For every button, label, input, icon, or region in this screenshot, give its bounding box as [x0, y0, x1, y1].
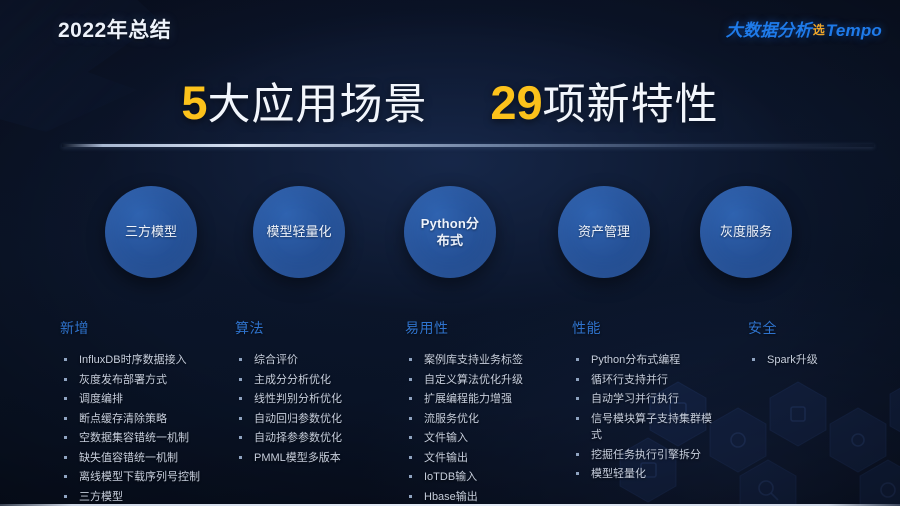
headline-part-1: 5大应用场景	[181, 70, 427, 132]
brand-highlight: 选	[812, 23, 826, 37]
headline-number-2: 29	[490, 76, 542, 129]
list-item: 自动学习并行执行	[572, 391, 722, 408]
list-item: Python分布式编程	[572, 352, 722, 369]
list-item: 文件输出	[405, 450, 570, 467]
header-divider	[62, 144, 874, 147]
list-item: 空数据集容错统一机制	[60, 430, 230, 447]
headline-text-2: 项新特性	[543, 81, 719, 129]
list-item: 循环行支持并行	[572, 372, 722, 389]
feature-list-5: Spark升级	[748, 352, 888, 369]
list-item: PMML模型多版本	[235, 450, 395, 467]
list-item: 挖掘任务执行引擎拆分	[572, 447, 722, 464]
scenario-bubble-label-5: 灰度服务	[720, 223, 772, 240]
list-item: 自动择参参数优化	[235, 430, 395, 447]
feature-column-new: 新增 InfluxDB时序数据接入 灰度发布部署方式 调度编排 断点缓存清除策略…	[60, 318, 230, 506]
list-item: 线性判别分析优化	[235, 391, 395, 408]
feature-list-3: 案例库支持业务标签 自定义算法优化升级 扩展编程能力增强 流服务优化 文件输入 …	[405, 352, 570, 505]
feature-list-1: InfluxDB时序数据接入 灰度发布部署方式 调度编排 断点缓存清除策略 空数…	[60, 352, 230, 505]
feature-column-title-1: 新增	[60, 318, 230, 338]
headline: 5大应用场景 29项新特性	[0, 70, 900, 132]
list-item: 主成分分析优化	[235, 372, 395, 389]
scenario-bubble-label-3: Python分布式	[416, 215, 484, 249]
scenario-bubble-4[interactable]: 资产管理	[558, 186, 650, 278]
feature-column-title-5: 安全	[748, 318, 888, 338]
feature-columns: 新增 InfluxDB时序数据接入 灰度发布部署方式 调度编排 断点缓存清除策略…	[0, 318, 900, 498]
page-title: 2022年总结	[58, 14, 171, 44]
list-item: 断点缓存清除策略	[60, 411, 230, 428]
brand-logo: 大数据分析选Tempo	[726, 16, 882, 41]
list-item: 调度编排	[60, 391, 230, 408]
scenario-bubble-2[interactable]: 模型轻量化	[253, 186, 345, 278]
headline-text-1: 大应用场景	[207, 81, 427, 129]
list-item: InfluxDB时序数据接入	[60, 352, 230, 369]
headline-part-2: 29项新特性	[490, 70, 718, 132]
list-item: 案例库支持业务标签	[405, 352, 570, 369]
scenario-bubble-3[interactable]: Python分布式	[404, 186, 496, 278]
list-item: 自定义算法优化升级	[405, 372, 570, 389]
list-item: Spark升级	[748, 352, 888, 369]
list-item: 缺失值容错统一机制	[60, 450, 230, 467]
list-item: 离线模型下载序列号控制	[60, 469, 230, 486]
list-item: 三方模型	[60, 489, 230, 506]
feature-column-title-3: 易用性	[405, 318, 570, 338]
scenario-bubble-label-1: 三方模型	[125, 223, 177, 240]
feature-column-title-2: 算法	[235, 318, 395, 338]
feature-list-4: Python分布式编程 循环行支持并行 自动学习并行执行 信号模块算子支持集群模…	[572, 352, 722, 483]
brand-prefix: 大数据分析	[726, 21, 812, 40]
feature-list-2: 综合评价 主成分分析优化 线性判别分析优化 自动回归参数优化 自动择参参数优化 …	[235, 352, 395, 466]
list-item: 综合评价	[235, 352, 395, 369]
list-item: 模型轻量化	[572, 466, 722, 483]
brand-word: Tempo	[826, 21, 882, 40]
feature-column-algorithm: 算法 综合评价 主成分分析优化 线性判别分析优化 自动回归参数优化 自动择参参数…	[235, 318, 395, 469]
list-item: 灰度发布部署方式	[60, 372, 230, 389]
feature-column-security: 安全 Spark升级	[748, 318, 888, 372]
scenario-bubble-5[interactable]: 灰度服务	[700, 186, 792, 278]
list-item: Hbase输出	[405, 489, 570, 506]
feature-column-title-4: 性能	[572, 318, 722, 338]
scenario-bubble-row: 三方模型 模型轻量化 Python分布式 资产管理 灰度服务	[0, 186, 900, 286]
list-item: 扩展编程能力增强	[405, 391, 570, 408]
scenario-bubble-label-4: 资产管理	[578, 223, 630, 240]
headline-number-1: 5	[181, 76, 207, 129]
feature-column-performance: 性能 Python分布式编程 循环行支持并行 自动学习并行执行 信号模块算子支持…	[572, 318, 722, 486]
list-item: 信号模块算子支持集群模式	[572, 411, 722, 444]
list-item: 流服务优化	[405, 411, 570, 428]
scenario-bubble-1[interactable]: 三方模型	[105, 186, 197, 278]
slide-root: 2022年总结 大数据分析选Tempo 5大应用场景 29项新特性 三方模型 模…	[0, 0, 900, 506]
list-item: 文件输入	[405, 430, 570, 447]
feature-column-usability: 易用性 案例库支持业务标签 自定义算法优化升级 扩展编程能力增强 流服务优化 文…	[405, 318, 570, 506]
list-item: IoTDB输入	[405, 469, 570, 486]
list-item: 自动回归参数优化	[235, 411, 395, 428]
scenario-bubble-label-2: 模型轻量化	[266, 223, 331, 240]
